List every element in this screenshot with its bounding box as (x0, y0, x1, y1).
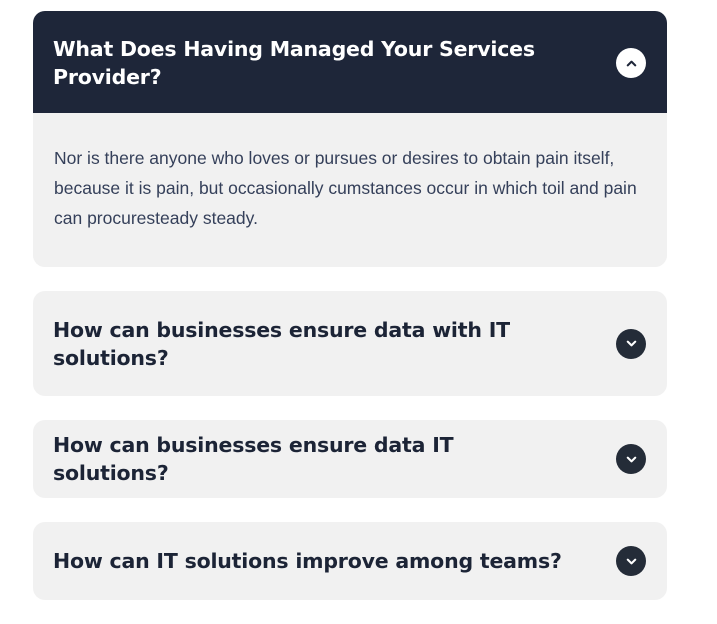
faq-toggle-button-2[interactable] (616, 329, 646, 359)
faq-header-4[interactable]: How can IT solutions improve among teams… (33, 522, 667, 600)
chevron-up-icon (624, 56, 639, 71)
chevron-down-icon (624, 554, 639, 569)
faq-header-2[interactable]: How can businesses ensure data with IT s… (33, 291, 667, 396)
faq-toggle-button-3[interactable] (616, 444, 646, 474)
chevron-down-icon (624, 336, 639, 351)
faq-toggle-button-4[interactable] (616, 546, 646, 576)
faq-header-3[interactable]: How can businesses ensure data IT soluti… (33, 420, 667, 498)
faq-question-label: How can IT solutions improve among teams… (53, 547, 562, 575)
faq-answer-text: Nor is there anyone who loves or pursues… (54, 143, 645, 233)
faq-item: How can IT solutions improve among teams… (33, 522, 667, 600)
faq-accordion: What Does Having Managed Your Services P… (33, 11, 667, 624)
faq-question-label: How can businesses ensure data with IT s… (53, 316, 573, 372)
faq-question-label: What Does Having Managed Your Services P… (53, 35, 573, 91)
chevron-down-icon (624, 452, 639, 467)
faq-item: How can businesses ensure data with IT s… (33, 291, 667, 396)
faq-question-label: How can businesses ensure data IT soluti… (53, 431, 573, 487)
faq-toggle-button-1[interactable] (616, 48, 646, 78)
faq-header-1[interactable]: What Does Having Managed Your Services P… (33, 11, 667, 113)
faq-item: How can businesses ensure data IT soluti… (33, 420, 667, 498)
faq-answer-panel-1: Nor is there anyone who loves or pursues… (33, 113, 667, 267)
faq-item: What Does Having Managed Your Services P… (33, 11, 667, 267)
